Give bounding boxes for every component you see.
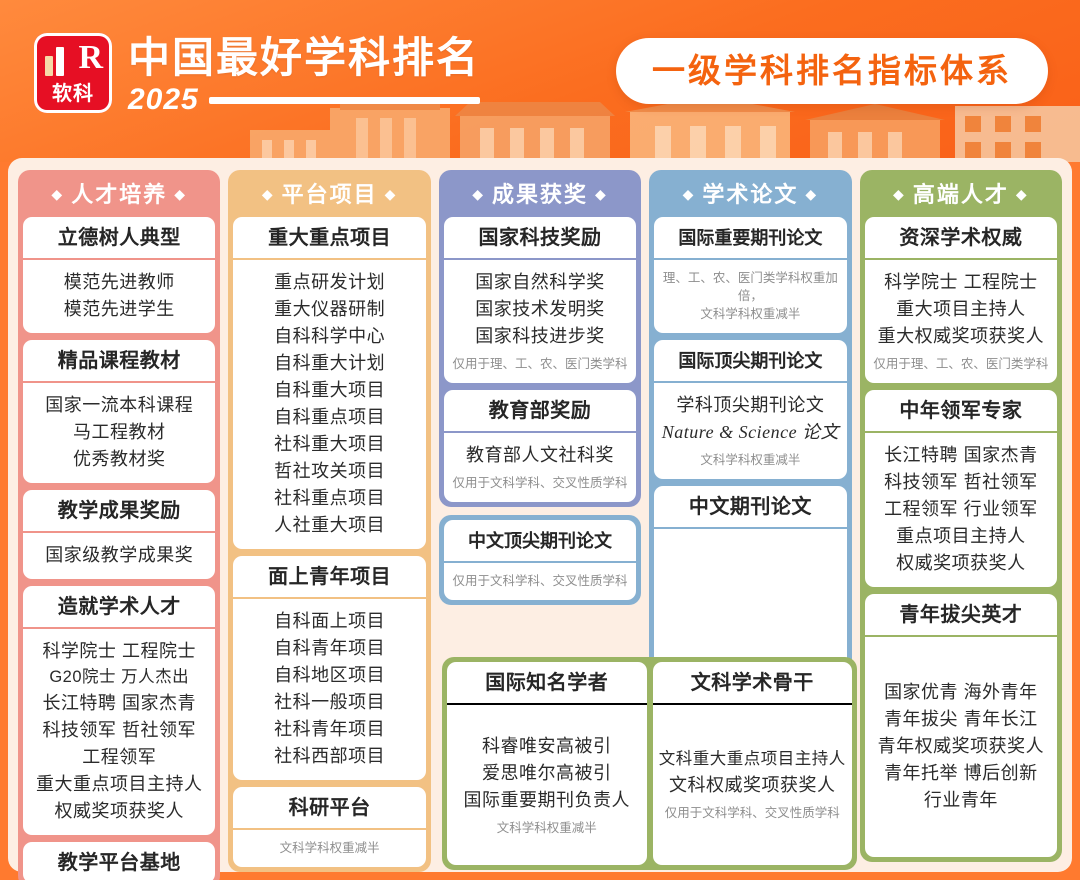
indicator-item: 自科地区项目: [236, 662, 422, 689]
brand-title: 中国最好学科排名: [128, 35, 480, 81]
indicator-item: 青年托举 博后创新: [868, 760, 1054, 787]
indicator-footnote: 文科学科权重减半: [657, 451, 843, 469]
indicator-card-title: 青年拔尖英才: [865, 594, 1057, 635]
page-header: R 软科 中国最好学科排名 2025 一级学科排名指标体系: [0, 0, 1080, 162]
indicator-item: 国家一流本科课程: [26, 392, 212, 419]
indicator-item: 长江特聘 国家杰青: [868, 442, 1054, 469]
indicator-card-body: 长江特聘 国家杰青科技领军 哲社领军工程领军 行业领军重点项目主持人权威奖项获奖…: [865, 431, 1057, 587]
indicator-card-title: 立德树人典型: [23, 217, 215, 258]
indicator-card[interactable]: 立德树人典型模范先进教师模范先进学生: [23, 217, 215, 333]
category-column-平台项目: ◆平台项目◆重大重点项目重点研发计划重大仪器研制自科科学中心自科重大计划自科重大…: [228, 170, 430, 862]
indicator-item: 自科重大项目: [236, 377, 422, 404]
indicator-card-body: 科学院士 工程院士G20院士 万人杰出长江特聘 国家杰青科技领军 哲社领军工程领…: [23, 627, 215, 835]
indicator-item: 社科重大项目: [236, 431, 422, 458]
indicator-card-body: 文科学科权重减半: [233, 828, 425, 867]
category-header: ◆学术论文◆: [654, 175, 846, 217]
indicator-card[interactable]: 教学平台基地: [23, 842, 215, 880]
indicator-item: Nature & Science 论文: [657, 419, 843, 446]
indicator-card-title: 国际知名学者: [447, 662, 647, 703]
indicator-card-body: 教育部人文社科奖仅用于文科学科、交叉性质学科: [444, 431, 636, 502]
indicator-card-body: 模范先进教师模范先进学生: [23, 258, 215, 333]
indicator-card[interactable]: 中文顶尖期刊论文仅用于文科学科、交叉性质学科: [444, 520, 636, 600]
indicator-item: 自科青年项目: [236, 635, 422, 662]
indicator-footnote: 理、工、农、医门类学科权重加倍，文科学科权重减半: [657, 269, 843, 323]
indicator-item: 重大仪器研制: [236, 296, 422, 323]
indicator-card-body: 重点研发计划重大仪器研制自科科学中心自科重大计划自科重大项目自科重点项目社科重大…: [233, 258, 425, 549]
indicator-card-title: 中年领军专家: [865, 390, 1057, 431]
indicator-item: 哲社攻关项目: [236, 458, 422, 485]
indicator-item: 自科重大计划: [236, 350, 422, 377]
indicator-item: 重大权威奖项获奖人: [868, 323, 1054, 350]
indicator-card[interactable]: 文科学术骨干文科重大重点项目主持人文科权威奖项获奖人仅用于文科学科、交叉性质学科: [653, 662, 853, 865]
category-column-人才培养: ◆人才培养◆立德树人典型模范先进教师模范先进学生精品课程教材国家一流本科课程马工…: [18, 170, 220, 862]
indicator-card[interactable]: 资深学术权威科学院士 工程院士重大项目主持人重大权威奖项获奖人仅用于理、工、农、…: [865, 217, 1057, 383]
indicator-card-title: 面上青年项目: [233, 556, 425, 597]
indicator-card-title: 教学平台基地: [23, 842, 215, 880]
indicator-item: 学科顶尖期刊论文: [657, 392, 843, 419]
indicator-card-body: 科睿唯安高被引爱思唯尔高被引国际重要期刊负责人文科学科权重减半: [447, 703, 647, 865]
indicator-item: 优秀教材奖: [26, 446, 212, 473]
indicator-item: 国家技术发明奖: [447, 296, 633, 323]
indicator-item: 重大项目主持人: [868, 296, 1054, 323]
diamond-icon: ◆: [1016, 186, 1029, 202]
category-group: ◆人才培养◆立德树人典型模范先进教师模范先进学生精品课程教材国家一流本科课程马工…: [18, 170, 220, 880]
page-title: 一级学科排名指标体系: [652, 51, 1012, 91]
indicator-item: 工程领军 行业领军: [868, 496, 1054, 523]
indicator-item: 模范先进教师: [26, 269, 212, 296]
diamond-icon: ◆: [472, 186, 485, 202]
indicator-item: 国际重要期刊负责人: [450, 787, 644, 814]
indicator-card-body: 仅用于文科学科、交叉性质学科: [444, 561, 636, 600]
indicator-item: 模范先进学生: [26, 296, 212, 323]
indicator-card-title: 资深学术权威: [865, 217, 1057, 258]
category-header: ◆高端人才◆: [865, 175, 1057, 217]
diamond-icon: ◆: [805, 186, 818, 202]
category-header: ◆人才培养◆: [23, 175, 215, 217]
indicator-footnote: 文科学科权重减半: [450, 819, 644, 837]
indicator-card-body: 国家优青 海外青年青年拔尖 青年长江青年权威奖项获奖人青年托举 博后创新行业青年: [865, 635, 1057, 857]
indicator-card[interactable]: 科研平台文科学科权重减半: [233, 787, 425, 867]
category-header: ◆成果获奖◆: [444, 175, 636, 217]
indicator-card[interactable]: 青年拔尖英才国家优青 海外青年青年拔尖 青年长江青年权威奖项获奖人青年托举 博后…: [865, 594, 1057, 857]
indicator-item: 长江特聘 国家杰青: [26, 690, 212, 717]
logo-letter: R: [78, 41, 103, 75]
category-header: ◆平台项目◆: [233, 175, 425, 217]
diamond-icon: ◆: [595, 186, 608, 202]
indicator-card-title: 造就学术人才: [23, 586, 215, 627]
diamond-icon: ◆: [51, 186, 64, 202]
indicator-card-title: 教育部奖励: [444, 390, 636, 431]
indicator-item: 行业青年: [868, 787, 1054, 814]
brand-year: 2025: [128, 83, 199, 117]
indicator-item: 权威奖项获奖人: [868, 550, 1054, 577]
category-group: 中文顶尖期刊论文仅用于文科学科、交叉性质学科: [439, 515, 641, 605]
indicator-footnote: 仅用于文科学科、交叉性质学科: [656, 804, 850, 822]
category-group: ◆平台项目◆重大重点项目重点研发计划重大仪器研制自科科学中心自科重大计划自科重大…: [228, 170, 430, 872]
indicator-item: 青年拔尖 青年长江: [868, 706, 1054, 733]
indicator-item: 国家科技进步奖: [447, 323, 633, 350]
indicator-item: 权威奖项获奖人: [26, 798, 212, 825]
category-group: ◆成果获奖◆国家科技奖励国家自然科学奖国家技术发明奖国家科技进步奖仅用于理、工、…: [439, 170, 641, 507]
indicator-item: 马工程教材: [26, 419, 212, 446]
indicator-card[interactable]: 面上青年项目自科面上项目自科青年项目自科地区项目社科一般项目社科青年项目社科西部…: [233, 556, 425, 780]
indicator-card[interactable]: 中年领军专家长江特聘 国家杰青科技领军 哲社领军工程领军 行业领军重点项目主持人…: [865, 390, 1057, 587]
indicator-card[interactable]: 重大重点项目重点研发计划重大仪器研制自科科学中心自科重大计划自科重大项目自科重点…: [233, 217, 425, 549]
indicator-card-body: 学科顶尖期刊论文Nature & Science 论文文科学科权重减半: [654, 381, 846, 479]
indicator-item: 科学院士 工程院士: [868, 269, 1054, 296]
indicator-card[interactable]: 国家科技奖励国家自然科学奖国家技术发明奖国家科技进步奖仅用于理、工、农、医门类学…: [444, 217, 636, 383]
indicator-card-title: 国际重要期刊论文: [654, 217, 846, 258]
indicator-card-body: 科学院士 工程院士重大项目主持人重大权威奖项获奖人仅用于理、工、农、医门类学科: [865, 258, 1057, 383]
indicator-footnote: 仅用于文科学科、交叉性质学科: [447, 474, 633, 492]
indicator-card-body: 理、工、农、医门类学科权重加倍，文科学科权重减半: [654, 258, 846, 333]
indicator-item: 工程领军: [26, 744, 212, 771]
indicator-item: 重点项目主持人: [868, 523, 1054, 550]
indicator-item: 社科西部项目: [236, 743, 422, 770]
diamond-icon: ◆: [262, 186, 275, 202]
indicator-footnote: 仅用于文科学科、交叉性质学科: [447, 572, 633, 590]
indicator-card[interactable]: 教学成果奖励国家级教学成果奖: [23, 490, 215, 579]
indicator-footnote: 仅用于理、工、农、医门类学科: [447, 355, 633, 373]
indicator-item: 人社重大项目: [236, 512, 422, 539]
indicator-item: 国家优青 海外青年: [868, 679, 1054, 706]
indicator-card[interactable]: 国际重要期刊论文理、工、农、医门类学科权重加倍，文科学科权重减半: [654, 217, 846, 333]
indicator-card-title: 精品课程教材: [23, 340, 215, 381]
indicator-item: 科技领军 哲社领军: [26, 717, 212, 744]
indicator-card-body: 国家自然科学奖国家技术发明奖国家科技进步奖仅用于理、工、农、医门类学科: [444, 258, 636, 383]
indicator-item: 爱思唯尔高被引: [450, 760, 644, 787]
indicator-card-title: 中文期刊论文: [654, 486, 846, 527]
indicator-item: 自科科学中心: [236, 323, 422, 350]
indicator-item: 重大重点项目主持人: [26, 771, 212, 798]
shared-green-band: 国际知名学者科睿唯安高被引爱思唯尔高被引国际重要期刊负责人文科学科权重减半文科学…: [442, 657, 857, 870]
indicator-item: 社科重点项目: [236, 485, 422, 512]
diamond-icon: ◆: [683, 186, 696, 202]
indicator-card-body: 文科重大重点项目主持人文科权威奖项获奖人仅用于文科学科、交叉性质学科: [653, 703, 853, 865]
brand-lockup: R 软科 中国最好学科排名 2025: [34, 33, 480, 117]
indicator-item: 科睿唯安高被引: [450, 733, 644, 760]
indicator-card[interactable]: 国际顶尖期刊论文学科顶尖期刊论文Nature & Science 论文文科学科权…: [654, 340, 846, 479]
indicator-card-title: 中文顶尖期刊论文: [444, 520, 636, 561]
indicator-card-body: 自科面上项目自科青年项目自科地区项目社科一般项目社科青年项目社科西部项目: [233, 597, 425, 780]
indicator-card[interactable]: 造就学术人才科学院士 工程院士G20院士 万人杰出长江特聘 国家杰青科技领军 哲…: [23, 586, 215, 835]
indicator-card-title: 教学成果奖励: [23, 490, 215, 531]
indicator-item: 青年权威奖项获奖人: [868, 733, 1054, 760]
indicator-item: 科技领军 哲社领军: [868, 469, 1054, 496]
indicator-footnote: 文科学科权重减半: [236, 839, 422, 857]
indicator-item: 科学院士 工程院士: [26, 638, 212, 665]
indicator-card-body: 国家级教学成果奖: [23, 531, 215, 579]
indicator-item: 社科青年项目: [236, 716, 422, 743]
indicator-item: 教育部人文社科奖: [447, 442, 633, 469]
indicator-card[interactable]: 教育部奖励教育部人文社科奖仅用于文科学科、交叉性质学科: [444, 390, 636, 502]
category-group: ◆高端人才◆资深学术权威科学院士 工程院士重大项目主持人重大权威奖项获奖人仅用于…: [860, 170, 1062, 862]
brand-rule: [209, 97, 480, 104]
indicator-item: 自科重点项目: [236, 404, 422, 431]
bar-chart-icon: [45, 44, 64, 76]
indicator-card[interactable]: 国际知名学者科睿唯安高被引爱思唯尔高被引国际重要期刊负责人文科学科权重减半: [447, 662, 647, 865]
diamond-icon: ◆: [893, 186, 906, 202]
page-title-badge: 一级学科排名指标体系: [616, 38, 1048, 104]
ruanke-logo: R 软科: [34, 33, 112, 113]
indicator-card[interactable]: 精品课程教材国家一流本科课程马工程教材优秀教材奖: [23, 340, 215, 483]
indicator-item: 文科重大重点项目主持人: [656, 747, 850, 772]
indicator-card-title: 国家科技奖励: [444, 217, 636, 258]
indicator-card-title: 科研平台: [233, 787, 425, 828]
indicator-card-title: 重大重点项目: [233, 217, 425, 258]
category-column-高端人才: ◆高端人才◆资深学术权威科学院士 工程院士重大项目主持人重大权威奖项获奖人仅用于…: [860, 170, 1062, 862]
indicator-item: 文科权威奖项获奖人: [656, 772, 850, 799]
indicator-footnote: 仅用于理、工、农、医门类学科: [868, 355, 1054, 373]
indicator-item: G20院士 万人杰出: [26, 665, 212, 690]
indicator-item: 国家自然科学奖: [447, 269, 633, 296]
indicator-item: 重点研发计划: [236, 269, 422, 296]
indicator-item: 自科面上项目: [236, 608, 422, 635]
diamond-icon: ◆: [385, 186, 398, 202]
diamond-icon: ◆: [174, 186, 187, 202]
indicator-card-title: 国际顶尖期刊论文: [654, 340, 846, 381]
logo-chinese-name: 软科: [34, 77, 112, 106]
indicator-card-body: 国家一流本科课程马工程教材优秀教材奖: [23, 381, 215, 483]
indicator-item: 社科一般项目: [236, 689, 422, 716]
indicator-item: 国家级教学成果奖: [26, 542, 212, 569]
indicator-card-title: 文科学术骨干: [653, 662, 853, 703]
